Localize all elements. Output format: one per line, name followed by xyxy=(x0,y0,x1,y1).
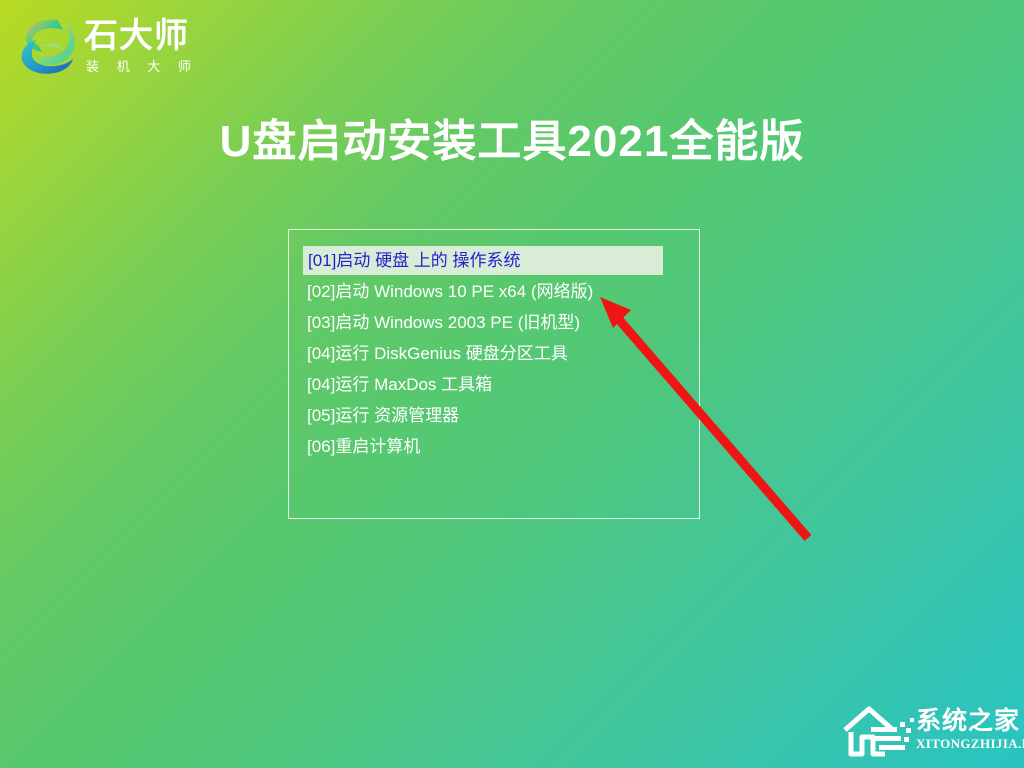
menu-item-label: [03]启动 Windows 2003 PE (旧机型) xyxy=(307,313,580,332)
shidashi-s-logo-icon xyxy=(14,12,80,80)
boot-menu-panel: [01]启动 硬盘 上的 操作系统 [02]启动 Windows 10 PE x… xyxy=(288,229,700,519)
watermark-name: 系统之家 xyxy=(916,706,1016,736)
menu-item-label: [01]启动 硬盘 上的 操作系统 xyxy=(308,251,521,270)
menu-item-label: [06]重启计算机 xyxy=(307,437,420,456)
page-title: U盘启动安装工具2021全能版 xyxy=(0,110,1024,174)
menu-item-04-maxdos[interactable]: [04]运行 MaxDos 工具箱 xyxy=(289,370,699,399)
menu-item-03[interactable]: [03]启动 Windows 2003 PE (旧机型) xyxy=(289,308,699,337)
brand-text-block: 石大师 装 机 大 师 xyxy=(84,16,212,76)
menu-item-label: [02]启动 Windows 10 PE x64 (网络版) xyxy=(307,282,593,301)
menu-item-label: [04]运行 MaxDos 工具箱 xyxy=(307,375,492,394)
menu-item-label: [04]运行 DiskGenius 硬盘分区工具 xyxy=(307,344,568,363)
menu-item-label: [05]运行 资源管理器 xyxy=(307,406,459,425)
menu-item-01[interactable]: [01]启动 硬盘 上的 操作系统 xyxy=(303,246,663,275)
menu-item-05[interactable]: [05]运行 资源管理器 xyxy=(289,401,699,430)
site-watermark: 系统之家 XITONGZHIJIA.NET xyxy=(840,700,1016,762)
house-watermark-icon xyxy=(840,704,916,758)
watermark-domain: XITONGZHIJIA.NET xyxy=(916,736,1016,752)
menu-item-04-diskgenius[interactable]: [04]运行 DiskGenius 硬盘分区工具 xyxy=(289,339,699,368)
menu-item-02[interactable]: [02]启动 Windows 10 PE x64 (网络版) xyxy=(289,277,699,306)
boot-menu-screen: 石大师 装 机 大 师 U盘启动安装工具2021全能版 [01]启动 硬盘 上的… xyxy=(0,0,1024,768)
brand-name: 石大师 xyxy=(84,16,212,56)
menu-item-06[interactable]: [06]重启计算机 xyxy=(289,432,699,461)
boot-menu-list[interactable]: [01]启动 硬盘 上的 操作系统 [02]启动 Windows 10 PE x… xyxy=(289,246,699,463)
watermark-text-block: 系统之家 XITONGZHIJIA.NET xyxy=(916,706,1016,752)
brand-logo: 石大师 装 机 大 师 xyxy=(12,8,212,86)
brand-subtitle: 装 机 大 师 xyxy=(84,58,212,76)
